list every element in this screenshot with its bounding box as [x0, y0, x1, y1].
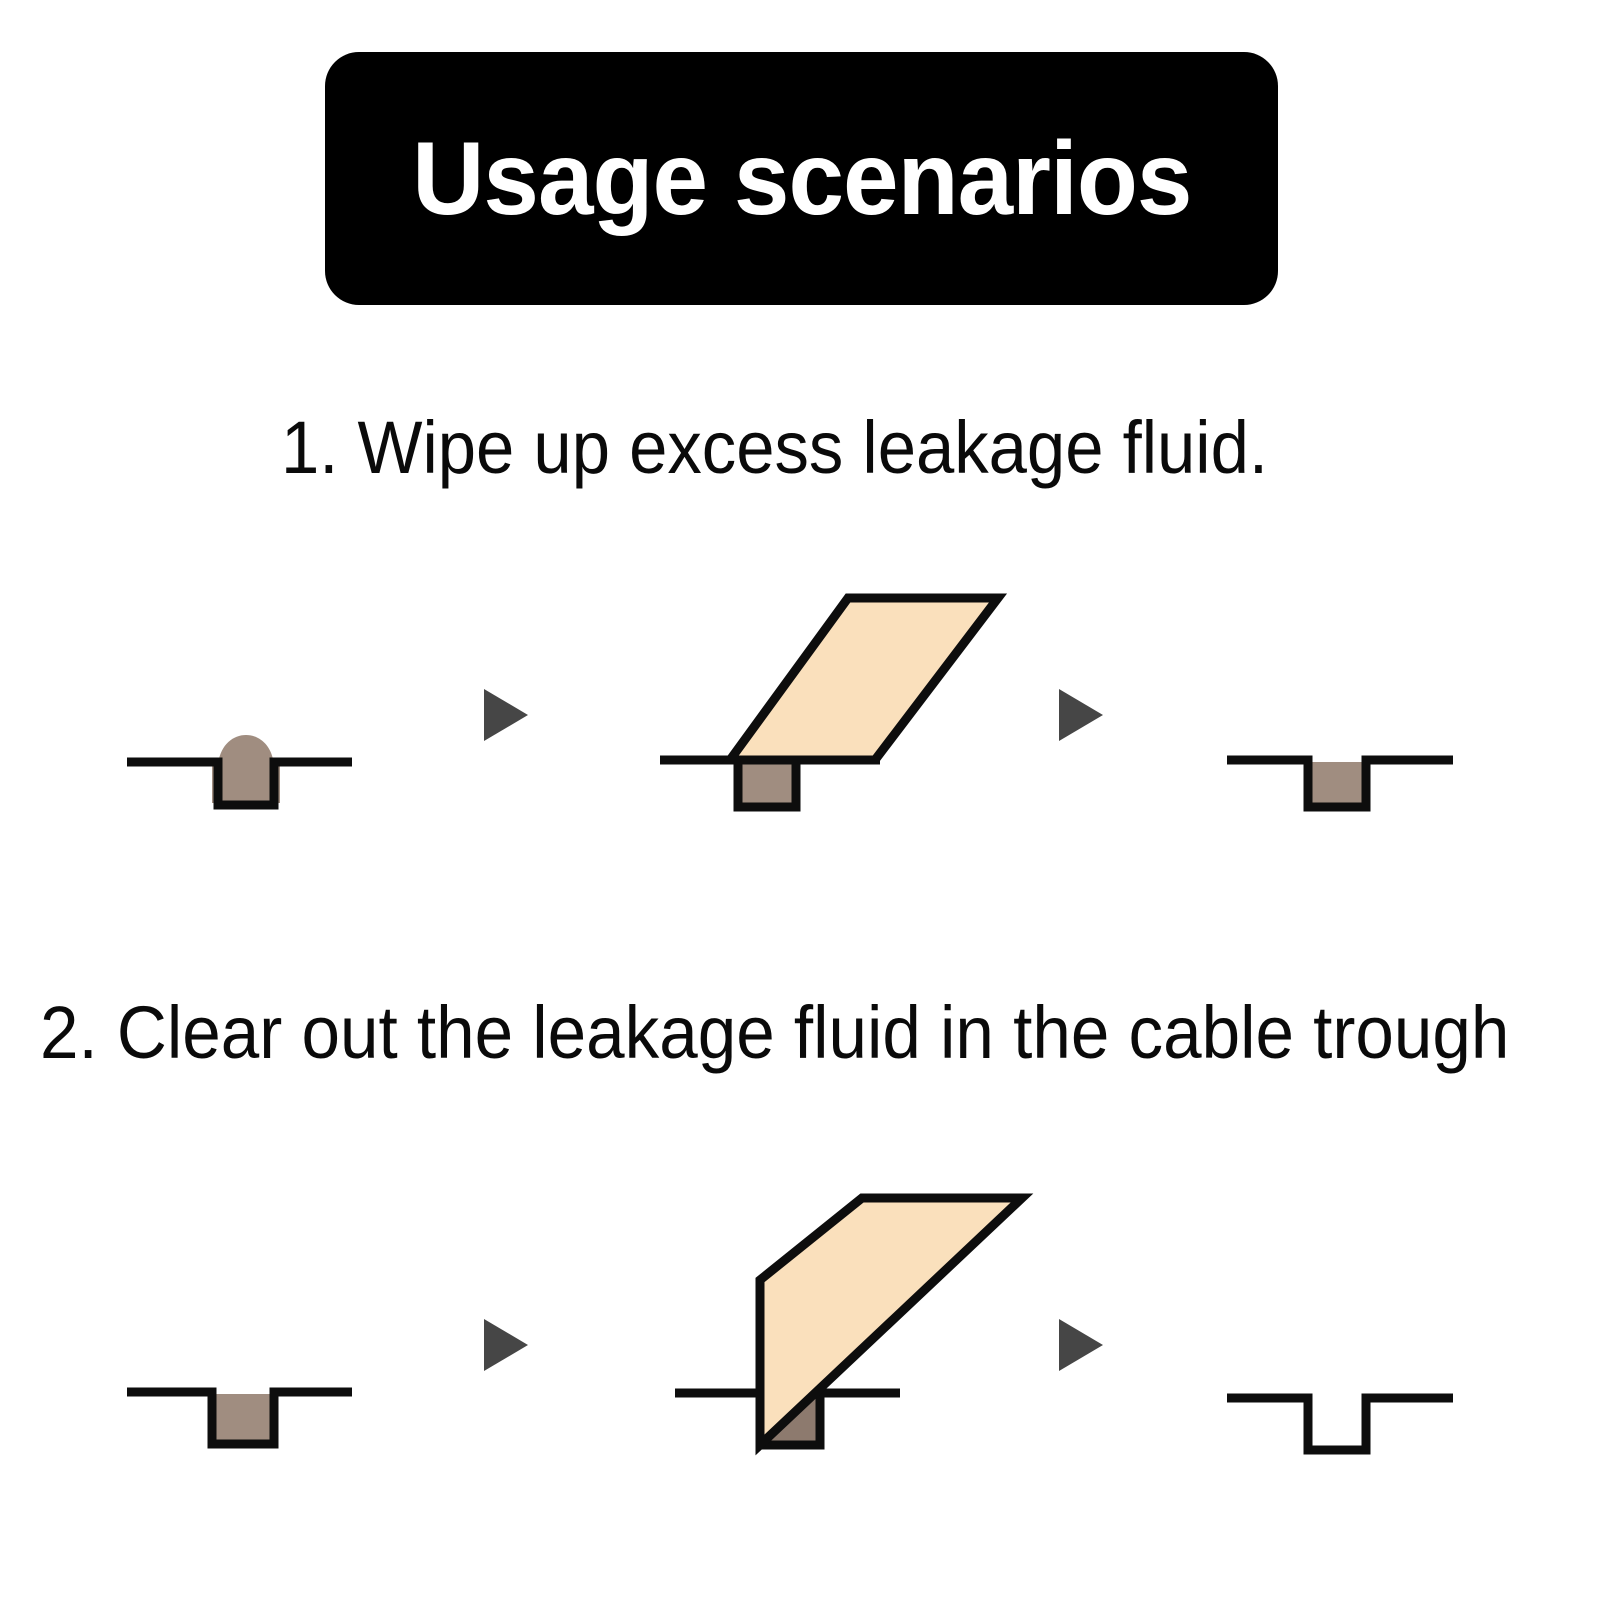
step-1-caption: 1. Wipe up excess leakage fluid.	[281, 411, 1268, 485]
play-arrow-icon-1	[480, 685, 532, 745]
diagram-trough-overfilled	[110, 560, 380, 850]
step-2-diagram-row	[0, 1160, 1600, 1460]
trough-outline	[1227, 1398, 1453, 1450]
play-arrow-icon-2	[1055, 685, 1107, 745]
diagram-scraper-blade-inserted	[650, 1160, 1050, 1460]
diagram-wiper-blade-flat	[640, 560, 1020, 850]
fluid-body	[738, 762, 796, 806]
play-arrow-icon-4	[1055, 1315, 1107, 1375]
usage-scenarios-infographic: Usage scenarios 1. Wipe up excess leakag…	[0, 0, 1600, 1600]
play-arrow-icon-3	[480, 1315, 532, 1375]
fluid-body	[212, 1394, 274, 1442]
fluid-body	[1308, 762, 1366, 806]
diagram-trough-filled	[110, 1160, 380, 1460]
step-1-diagram-row	[0, 560, 1600, 850]
wiper-blade	[730, 598, 998, 760]
scraper-blade	[760, 1198, 1022, 1445]
diagram-trough-level	[1205, 560, 1485, 850]
step-2-caption: 2. Clear out the leakage fluid in the ca…	[40, 996, 1509, 1070]
page-title: Usage scenarios	[412, 127, 1191, 231]
diagram-trough-empty	[1205, 1160, 1485, 1460]
title-banner: Usage scenarios	[325, 52, 1278, 305]
